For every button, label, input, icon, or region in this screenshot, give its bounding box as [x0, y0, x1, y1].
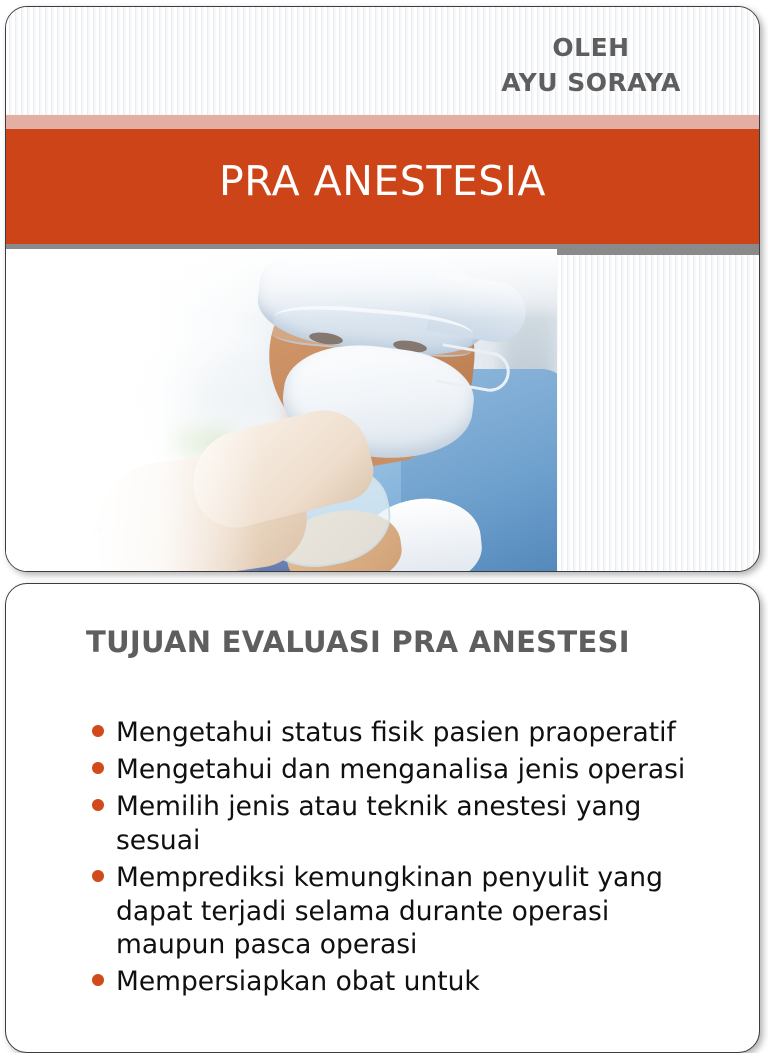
list-item: Mengetahui dan menganalisa jenis operasi	[84, 753, 724, 787]
author-block: OLEH AYU SORAYA	[441, 31, 741, 100]
surgeon-photo	[5, 249, 557, 572]
bullet-dot-icon	[92, 799, 104, 811]
bullet-dot-icon	[92, 762, 104, 774]
list-item-label: Memilih jenis atau teknik anestesi yang …	[116, 791, 641, 856]
author-name: AYU SORAYA	[441, 66, 741, 101]
author-label: OLEH	[441, 31, 741, 66]
pink-accent-band	[6, 115, 759, 129]
list-item-label: Mengetahui dan menganalisa jenis operasi	[116, 754, 685, 785]
bullet-dot-icon	[92, 870, 104, 882]
title-banner: PRA ANESTESIA	[6, 129, 759, 244]
list-item: Memilih jenis atau teknik anestesi yang …	[84, 790, 724, 858]
photo-top-white-fade	[5, 249, 557, 319]
content-heading: TUJUAN EVALUASI PRA ANESTESI	[86, 625, 630, 659]
bullet-dot-icon	[92, 974, 104, 986]
list-item-label: Mempersiapkan obat untuk	[116, 966, 480, 997]
list-item: Mengetahui status fisik pasien praoperat…	[84, 716, 724, 750]
page-title: PRA ANESTESIA	[6, 161, 759, 202]
title-slide: PRA ANESTESIA OLEH AYU SORAYA	[5, 6, 760, 572]
bullet-dot-icon	[92, 725, 104, 737]
content-slide: TUJUAN EVALUASI PRA ANESTESI Mengetahui …	[5, 583, 760, 1053]
list-item-label: Memprediksi kemungkinan penyulit yang da…	[116, 862, 663, 961]
list-item: Mempersiapkan obat untuk	[84, 965, 724, 999]
list-item-label: Mengetahui status fisik pasien praoperat…	[116, 717, 676, 748]
list-item: Memprediksi kemungkinan penyulit yang da…	[84, 861, 724, 963]
objectives-list: Mengetahui status fisik pasien praoperat…	[84, 716, 724, 1002]
